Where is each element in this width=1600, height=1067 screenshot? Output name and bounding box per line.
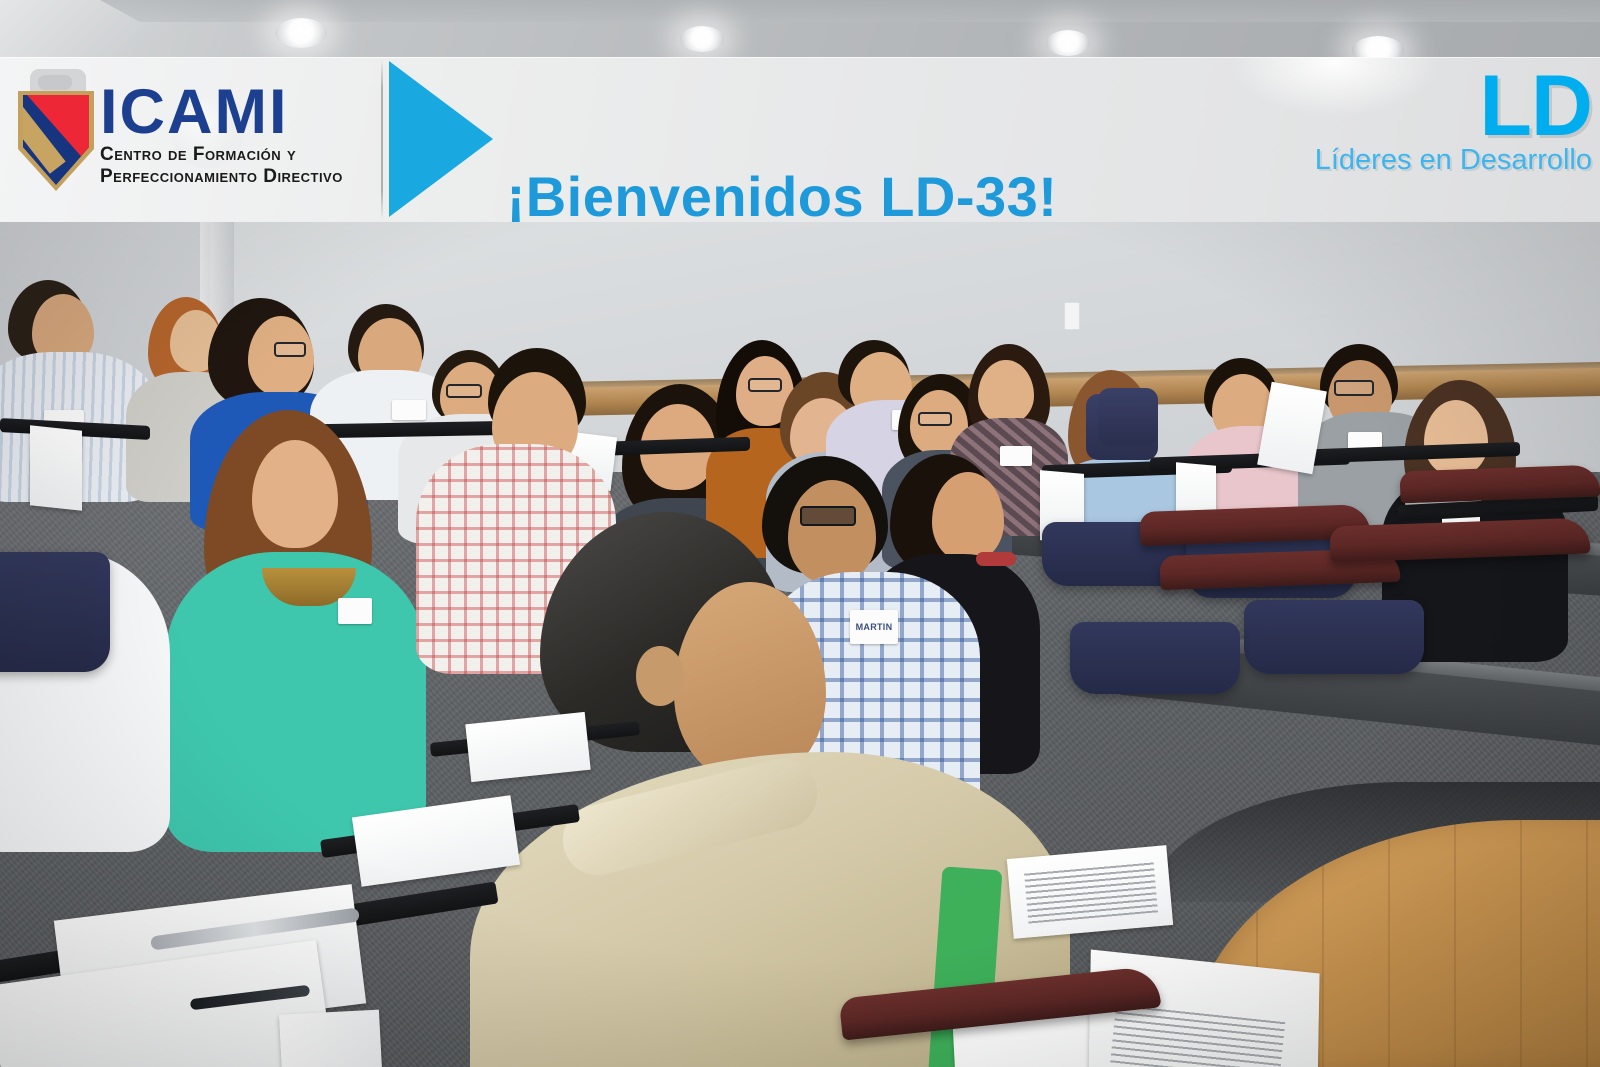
ceiling-light-3	[1046, 30, 1090, 56]
chair-seat	[0, 552, 110, 672]
banner-divider	[381, 60, 383, 219]
header-banner: ICAMI Centro de Formación y Perfeccionam…	[0, 57, 1600, 222]
name-badge	[392, 400, 426, 420]
ld-wordmark: LD	[1292, 65, 1592, 147]
person-face	[978, 360, 1034, 424]
icami-tagline-line1: Centro de Formación y	[100, 144, 343, 166]
icami-shield-icon	[18, 77, 94, 193]
chair-seat	[1244, 600, 1424, 674]
light-switch	[1064, 302, 1080, 330]
play-triangle-icon	[389, 61, 493, 217]
person-face	[1424, 400, 1488, 476]
name-badge: MARTIN	[850, 610, 898, 644]
ceiling-light-1	[275, 18, 327, 48]
eyeglasses-icon	[446, 384, 482, 398]
eyeglasses-icon	[748, 378, 782, 392]
icami-wordmark: ICAMI	[100, 82, 343, 142]
ceiling-light-2	[680, 26, 724, 52]
person-ear	[636, 646, 684, 706]
icami-logo-lockup: ICAMI Centro de Formación y Perfeccionam…	[100, 82, 343, 188]
icami-tagline: Centro de Formación y Perfeccionamiento …	[100, 144, 343, 188]
icami-tagline-line2: Perfeccionamiento Directivo	[100, 166, 343, 188]
slide-canvas: ICAMI Centro de Formación y Perfeccionam…	[0, 0, 1600, 1067]
eyeglasses-icon	[800, 506, 856, 526]
chair-seat	[1070, 622, 1240, 694]
page-title: ¡Bienvenidos LD-33!	[507, 164, 1058, 229]
paper-sheet	[279, 1010, 393, 1067]
name-badge	[338, 598, 372, 624]
eyeglasses-icon	[918, 412, 952, 426]
name-badge	[1000, 446, 1032, 466]
ld-logo-lockup: LD Líderes en Desarrollo	[1292, 65, 1592, 177]
ceiling	[0, 0, 1600, 60]
person-face	[932, 472, 1004, 562]
paper-sheet	[30, 425, 82, 510]
eyeglasses-icon	[1334, 380, 1374, 396]
bracelet	[976, 552, 1016, 566]
ld-tagline: Líderes en Desarrollo	[1292, 143, 1592, 177]
chair-back	[1098, 388, 1158, 446]
classroom-photo: MARTIN	[0, 222, 1600, 1067]
eyeglasses-icon	[274, 342, 306, 357]
